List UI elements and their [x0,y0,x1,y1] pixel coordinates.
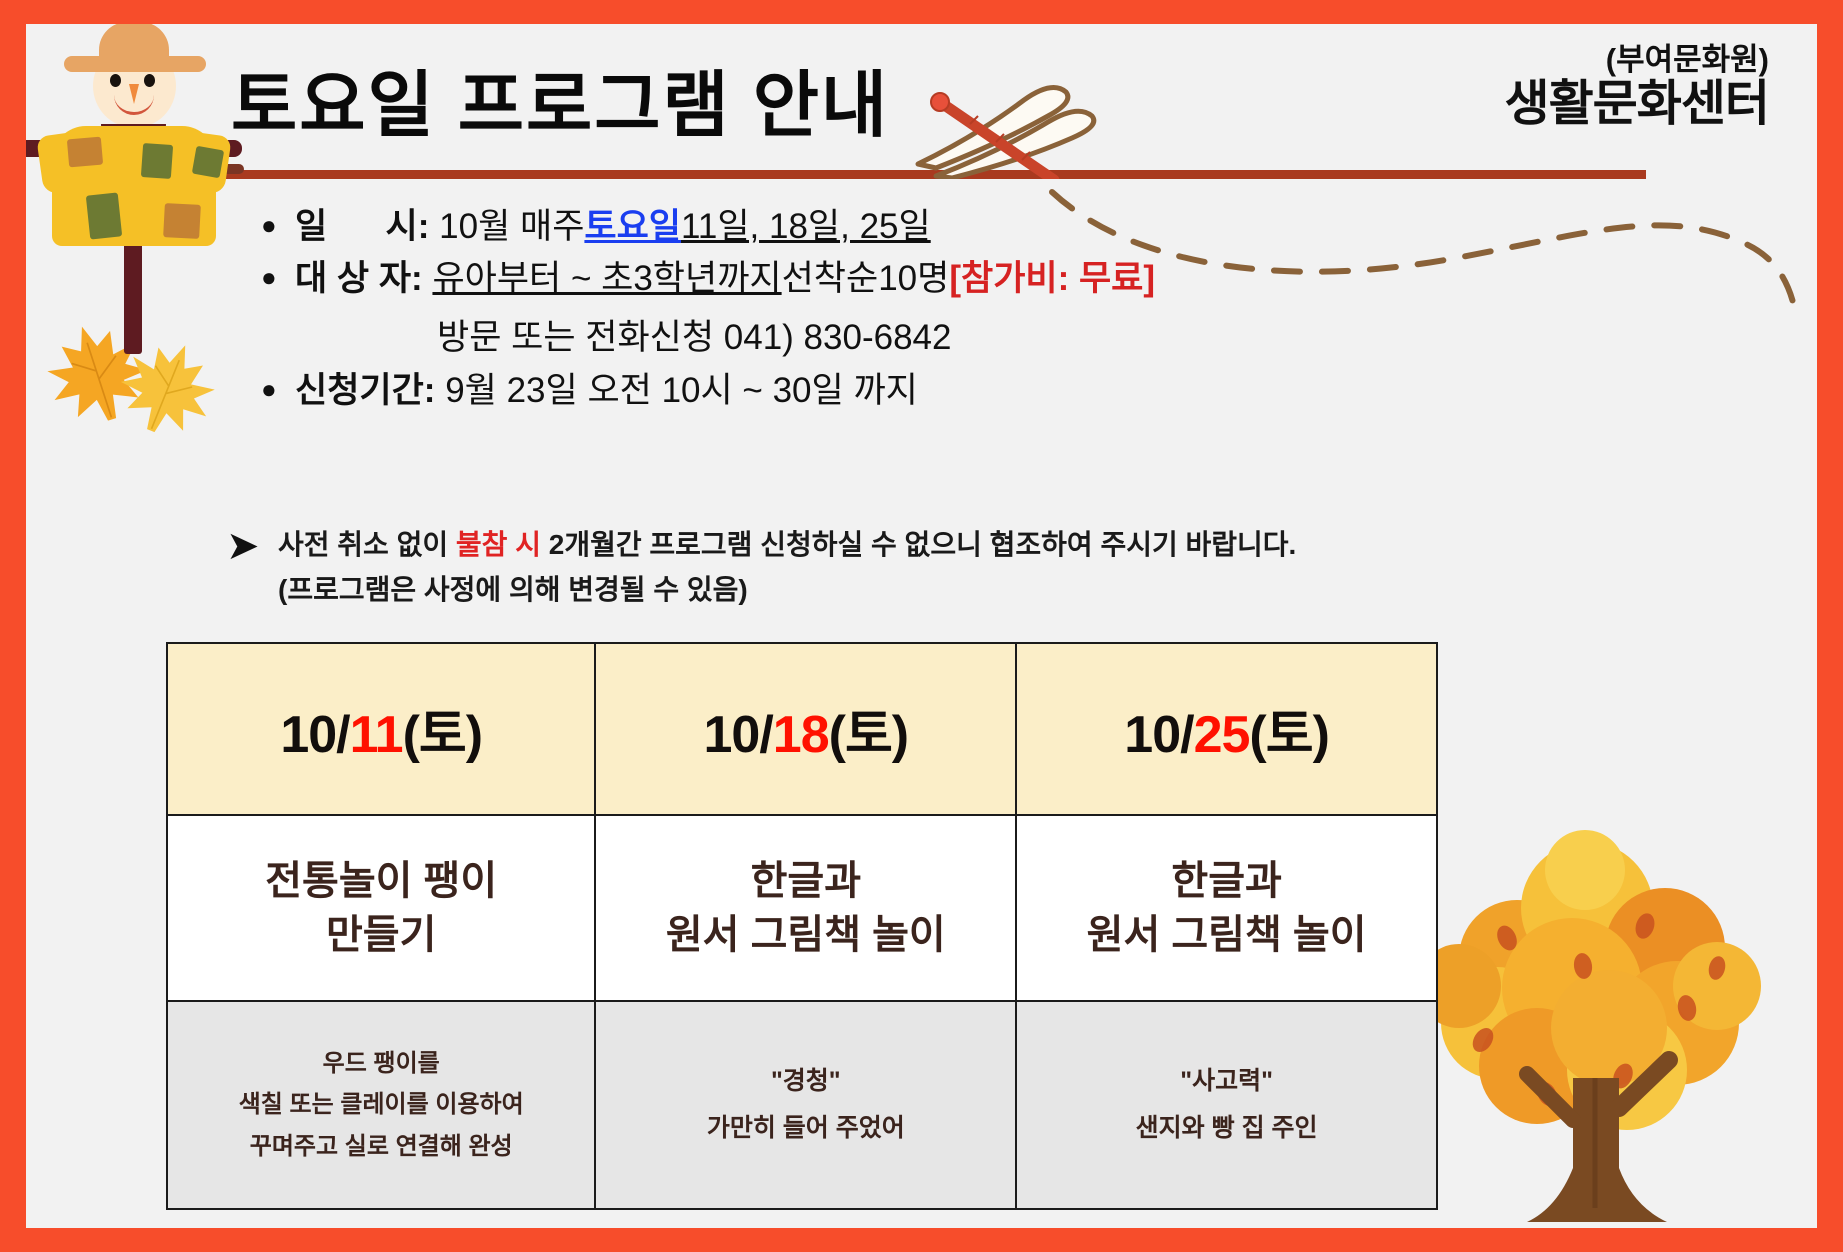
info-value-fee: [참가비: 무료] [949,258,1155,301]
table-header-cell: 10/25(토) [1016,643,1437,815]
program-title-2-line2: 원서 그림책 놀이 [597,908,1014,962]
autumn-tree-illustration [1387,808,1807,1228]
notice-text: 사전 취소 없이 불참 시 2개월간 프로그램 신청하실 수 없으니 협조하여 … [278,522,1296,613]
table-header-row: 10/11(토) 10/18(토) 10/25(토) [167,643,1437,815]
program-title-1: 전통놀이 팽이 만들기 [169,854,593,962]
table-description-row: 우드 팽이를 색칠 또는 클레이를 이용하여 꾸며주고 실로 연결해 완성 "경… [167,1001,1437,1209]
logo-title: 생활문화센터 [1505,79,1769,130]
notice-line-1-b: 2개월간 프로그램 신청하실 수 없으니 협조하여 주시기 바랍니다. [541,529,1296,560]
bullet-icon: ● [261,376,295,402]
scarecrow-patch [163,203,201,239]
date-day-3: 25 [1194,706,1250,764]
scarecrow-eye-right [144,74,155,87]
program-desc-2: "경청" 가만히 들어 주었어 [597,1058,1014,1153]
table-cell-program: 한글과 원서 그림책 놀이 [595,815,1016,1001]
date-month-2: 10/ [703,706,772,764]
date-label-2: 10/18(토) [597,692,1014,767]
scarecrow-eye-left [110,74,121,87]
info-value-target-range: 유아부터 ~ 초3학년까지 [432,258,781,301]
logo-subtitle: (부여문화원) [1505,44,1769,77]
date-day-2: 18 [773,706,829,764]
table-cell-description: "경청" 가만히 들어 주었어 [595,1001,1016,1209]
dragonfly-illustration [906,64,1126,179]
program-title-3-line2: 원서 그림책 놀이 [1018,908,1435,962]
poster-canvas: 토요일 프로그램 안내 ● 일 [26,24,1817,1228]
program-desc-1: 우드 팽이를 색칠 또는 클레이를 이용하여 꾸며주고 실로 연결해 완성 [169,1043,593,1167]
info-list: ● 일 시: 10월 매주 토요일 11일, 18일, 25일 ● 대 상 자:… [261,206,1561,422]
program-desc-3: "사고력" 샌지와 빵 집 주인 [1018,1058,1435,1153]
table-header-cell: 10/11(토) [167,643,595,815]
scarecrow-patch [67,137,103,168]
scarecrow-patch [141,143,173,179]
scarecrow-hat-crown [99,24,169,64]
info-value-schedule-prefix: 10월 매주 [439,206,584,249]
program-desc-1-line2: 색칠 또는 클레이를 이용하여 [169,1084,593,1125]
bullet-icon: ● [261,212,295,238]
scarecrow-illustration [26,24,246,346]
program-desc-1-line1: 우드 팽이를 [169,1043,593,1084]
program-desc-2-line2: 가만히 들어 주었어 [597,1105,1014,1153]
info-value-target-quota: 선착순10명 [782,258,950,301]
info-row-application-period: ● 신청기간: 9월 23일 오전 10시 ~ 30일 까지 [261,370,1561,413]
info-value-application-period: 9월 23일 오전 10시 ~ 30일 까지 [445,370,918,413]
program-desc-2-line1: "경청" [597,1058,1014,1106]
date-suffix-3: (토) [1249,706,1328,764]
scarecrow-patch [86,192,122,239]
program-title-1-line1: 전통놀이 팽이 [169,854,593,908]
notice-block: ➤ 사전 취소 없이 불참 시 2개월간 프로그램 신청하실 수 없으니 협조하… [226,522,1626,613]
date-label-1: 10/11(토) [169,692,593,767]
info-label-target: 대 상 자: [295,258,423,301]
notice-line-1: 사전 취소 없이 불참 시 2개월간 프로그램 신청하실 수 없으니 협조하여 … [278,522,1296,567]
table-program-row: 전통놀이 팽이 만들기 한글과 원서 그림책 놀이 한글과 원서 그림책 놀이 [167,815,1437,1001]
center-logo: (부여문화원) 생활문화센터 [1505,44,1769,130]
table-cell-program: 한글과 원서 그림책 놀이 [1016,815,1437,1001]
program-title-3-line1: 한글과 [1018,854,1435,908]
program-title-2-line1: 한글과 [597,854,1014,908]
table-cell-program: 전통놀이 팽이 만들기 [167,815,595,1001]
arrow-right-icon: ➤ [226,526,278,613]
date-suffix-2: (토) [829,706,908,764]
table-cell-description: "사고력" 샌지와 빵 집 주인 [1016,1001,1437,1209]
table-cell-description: 우드 팽이를 색칠 또는 클레이를 이용하여 꾸며주고 실로 연결해 완성 [167,1001,595,1209]
date-suffix-1: (토) [403,706,482,764]
schedule-table: 10/11(토) 10/18(토) 10/25(토) 전통놀이 팽이 만들기 [166,642,1438,1210]
bullet-icon: ● [261,264,295,290]
info-contact-line: 방문 또는 전화신청 041) 830-6842 [295,309,1561,360]
notice-line-1-highlight: 불참 시 [456,529,541,560]
info-row-schedule: ● 일 시: 10월 매주 토요일 11일, 18일, 25일 [261,206,1561,249]
program-title-2: 한글과 원서 그림책 놀이 [597,854,1014,962]
program-title-1-line2: 만들기 [169,908,593,962]
program-desc-1-line3: 꾸며주고 실로 연결해 완성 [169,1126,593,1167]
info-row-target: ● 대 상 자: 유아부터 ~ 초3학년까지 선착순10명 [참가비: 무료] [261,258,1561,301]
program-title-3: 한글과 원서 그림책 놀이 [1018,854,1435,962]
notice-line-1-a: 사전 취소 없이 [278,529,456,560]
info-value-schedule-day: 토요일 [584,206,681,249]
date-label-3: 10/25(토) [1018,692,1435,767]
scarecrow-patch [192,146,224,178]
date-month-1: 10/ [280,706,349,764]
info-label-schedule: 일 시: [295,206,429,249]
date-month-3: 10/ [1124,706,1193,764]
date-day-1: 11 [350,706,403,764]
tree-trunk [1527,1060,1669,1222]
page-title: 토요일 프로그램 안내 [231,46,889,151]
table-header-cell: 10/18(토) [595,643,1016,815]
info-value-schedule-dates: 11일, 18일, 25일 [681,206,931,249]
info-label-application-period: 신청기간: [295,370,435,413]
notice-line-2: (프로그램은 사정에 의해 변경될 수 있음) [278,567,1296,612]
program-desc-3-line2: 샌지와 빵 집 주인 [1018,1105,1435,1153]
program-desc-3-line1: "사고력" [1018,1058,1435,1106]
